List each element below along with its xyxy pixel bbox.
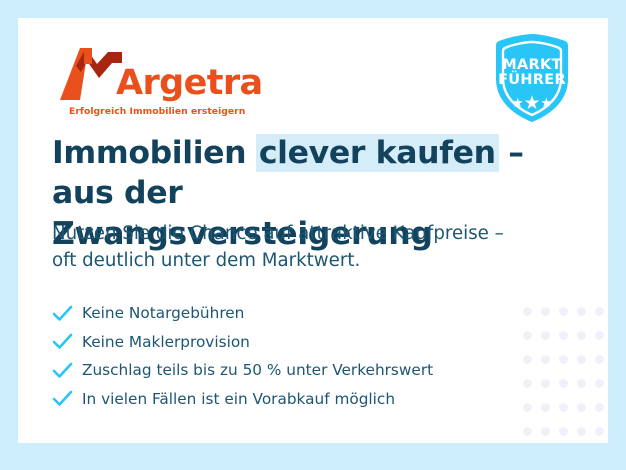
grid-dot [577,427,586,436]
grid-dot [595,403,604,412]
grid-dot [559,355,568,364]
grid-dot [541,427,550,436]
grid-dot [577,355,586,364]
check-icon [52,359,82,381]
badge-stars: ★★★ [490,94,574,113]
grid-dot [523,379,532,388]
star-icon: ★ [541,95,553,110]
list-item-label: Keine Notargebühren [82,304,244,322]
logo-wordmark: Argetra [116,66,263,101]
grid-dot [523,355,532,364]
grid-dot [559,331,568,340]
list-item-label: In vielen Fällen ist ein Vorabkauf mögli… [82,390,395,408]
headline-text-after: – [498,135,524,171]
headline-highlight: clever kaufen [256,134,499,172]
benefits-list: Keine Notargebühren Keine Maklerprovisio… [52,299,522,413]
grid-dot [595,379,604,388]
check-icon [52,302,82,324]
badge-text: MARKT FÜHRER [490,58,574,89]
grid-dot [577,307,586,316]
grid-dot [595,331,604,340]
grid-dot [541,379,550,388]
grid-dot [541,355,550,364]
market-leader-badge: MARKT FÜHRER ★★★ [490,32,574,124]
decorative-dot-grid [518,299,608,443]
list-item: Keine Notargebühren [52,299,522,328]
list-item: Keine Maklerprovision [52,328,522,357]
grid-dot [523,307,532,316]
grid-dot [559,379,568,388]
promo-banner-frame: Argetra Erfolgreich Immobilien ersteiger… [0,0,626,470]
argetra-logo[interactable]: Argetra Erfolgreich Immobilien ersteiger… [56,42,256,124]
grid-dot [541,403,550,412]
grid-dot [559,307,568,316]
grid-dot [523,331,532,340]
star-icon: ★ [523,93,540,114]
subtitle-line-1: Nutzen Sie die Chance auf attraktive Kau… [52,221,582,248]
grid-dot [523,403,532,412]
list-item: In vielen Fällen ist ein Vorabkauf mögli… [52,385,522,414]
subtitle-line-2: oft deutlich unter dem Marktwert. [52,248,582,275]
grid-dot [595,355,604,364]
list-item-label: Zuschlag teils bis zu 50 % unter Verkehr… [82,361,433,379]
page-subtitle: Nutzen Sie die Chance auf attraktive Kau… [52,221,582,275]
star-icon: ★ [512,95,524,110]
grid-dot [595,307,604,316]
grid-dot [523,427,532,436]
grid-dot [577,331,586,340]
list-item-label: Keine Maklerprovision [82,333,250,351]
check-icon [52,388,82,410]
grid-dot [595,427,604,436]
grid-dot [577,379,586,388]
grid-dot [577,403,586,412]
headline-text-before: Immobilien [52,135,257,171]
list-item: Zuschlag teils bis zu 50 % unter Verkehr… [52,356,522,385]
grid-dot [541,331,550,340]
grid-dot [559,403,568,412]
check-icon [52,331,82,353]
promo-card: Argetra Erfolgreich Immobilien ersteiger… [18,18,608,443]
grid-dot [559,427,568,436]
badge-line-2: FÜHRER [490,73,574,88]
grid-dot [541,307,550,316]
headline-line-1: Immobilien clever kaufen – [52,133,572,173]
logo-tagline: Erfolgreich Immobilien ersteigern [69,106,245,117]
